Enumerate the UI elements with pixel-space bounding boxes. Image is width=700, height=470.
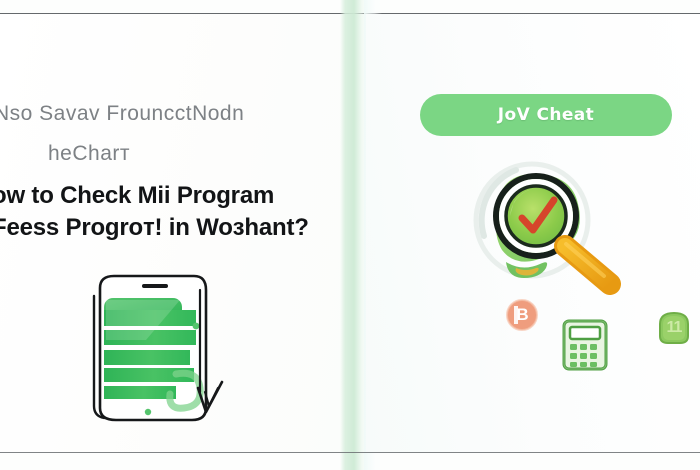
jov-cheat-button[interactable]: JoV Cheat [420,94,672,136]
left-page-panel: Nso Savav FrouncctNodn heCharт ow to Che… [0,14,344,452]
page-bottom-rule [0,452,700,453]
calculator-icon [560,318,610,372]
left-kicker-line-1: Nso Savav FrouncctNodn [0,102,244,126]
left-headline-line-2: Feess Progroт! in Woɜhant? [0,214,309,242]
screenshot-canvas: Nso Savav FrouncctNodn heCharт ow to Che… [0,0,700,470]
jov-cheat-button-label: JoV Cheat [498,105,594,125]
document-list-checkmark-icon [72,266,252,438]
badge-b-icon: B [505,298,539,332]
left-headline-line-1: ow to Check Mii Program [0,182,274,210]
badge-11-icon: 11 [656,310,692,346]
left-kicker-line-2: heCharт [48,142,130,166]
magnifier-check-icon [470,158,650,308]
